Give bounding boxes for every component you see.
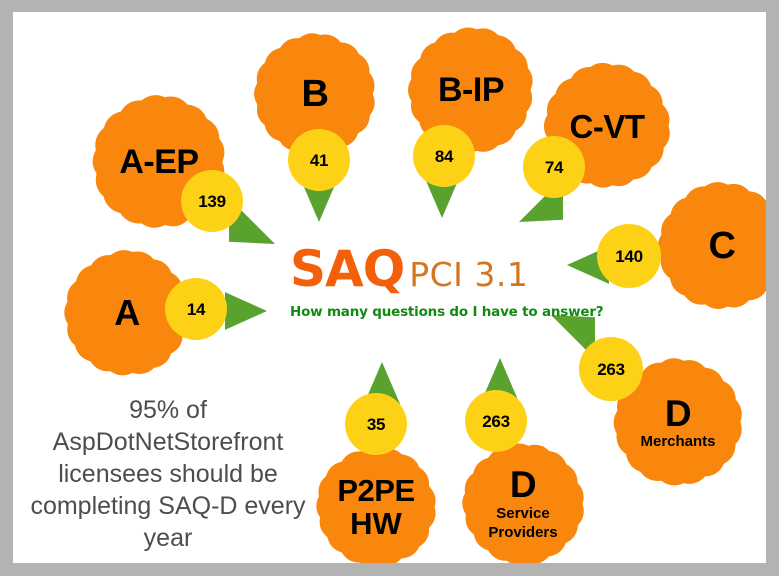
blob-label-a: A — [114, 295, 140, 331]
count-bubble-d-service-providers[interactable]: 263 — [465, 390, 527, 452]
blob-label-d-merchants: D — [665, 395, 691, 432]
count-bubble-a-ep[interactable]: 139 — [181, 170, 243, 232]
saq-infographic: A-EP139A14B41B-IP84C-VT74C140DMerchants2… — [0, 0, 779, 576]
count-value-c-vt: 74 — [545, 159, 563, 176]
count-value-a: 14 — [187, 301, 205, 318]
count-bubble-b-ip[interactable]: 84 — [413, 125, 475, 187]
blob-label-c: C — [709, 227, 736, 265]
count-bubble-p2pe-hw[interactable]: 35 — [345, 393, 407, 455]
count-bubble-c[interactable]: 140 — [597, 224, 661, 288]
blob-sublabel-d-service-providers: Service Providers — [487, 505, 559, 543]
brand-tagline: How many questions do I have to answer? — [290, 304, 603, 320]
brand-block: SAQ PCI 3.1 How many questions do I have… — [290, 244, 603, 320]
count-value-d-service-providers: 263 — [482, 413, 509, 430]
blob-label-a-ep: A-EP — [119, 145, 198, 179]
count-value-p2pe-hw: 35 — [367, 416, 385, 433]
count-value-d-merchants: 263 — [597, 361, 624, 378]
brand-subtitle: PCI 3.1 — [409, 258, 528, 291]
blob-label-b-ip: B-IP — [438, 73, 504, 107]
count-bubble-d-merchants[interactable]: 263 — [579, 337, 643, 401]
count-bubble-b[interactable]: 41 — [288, 129, 350, 191]
blob-label-p2pe-hw: P2PE — [337, 475, 414, 506]
note-text: 95% of AspDotNetStorefront licensees sho… — [23, 394, 313, 554]
count-value-b-ip: 84 — [435, 148, 453, 165]
brand-title: SAQ — [290, 244, 404, 294]
blob-label-b: B — [302, 75, 329, 113]
infographic-canvas: A-EP139A14B41B-IP84C-VT74C140DMerchants2… — [13, 12, 766, 563]
saq-blob-p2pe-hw[interactable]: P2PEHW — [313, 444, 439, 563]
blob-label-d-service-providers: D — [510, 466, 536, 503]
saq-blob-c[interactable]: C — [655, 179, 766, 313]
blob-sublabel-p2pe-hw: HW — [350, 508, 402, 539]
blob-sublabel-d-merchants: Merchants — [640, 434, 715, 449]
saq-blob-d-service-providers[interactable]: DService Providers — [459, 440, 587, 563]
count-value-b: 41 — [310, 152, 328, 169]
brand-title-line: SAQ PCI 3.1 — [290, 244, 603, 294]
blob-label-c-vt: C-VT — [570, 110, 645, 143]
arrow-a — [225, 290, 267, 332]
count-bubble-a[interactable]: 14 — [165, 278, 227, 340]
count-value-c: 140 — [615, 248, 642, 265]
count-bubble-c-vt[interactable]: 74 — [523, 136, 585, 198]
count-value-a-ep: 139 — [198, 193, 225, 210]
